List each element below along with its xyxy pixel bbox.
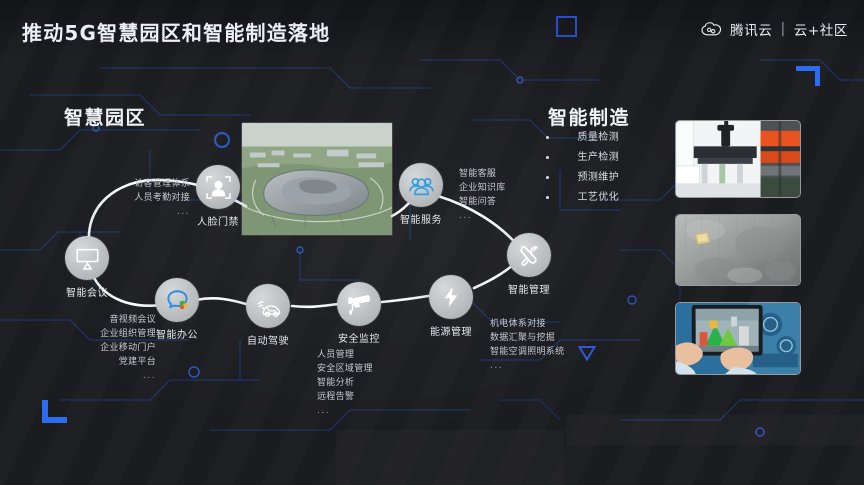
- smart-car-icon: [255, 293, 282, 320]
- node-bubble: [155, 278, 199, 322]
- desc-line: 党建平台: [80, 356, 156, 370]
- desc-line: 企业组织管理: [80, 328, 156, 342]
- desc-ellipsis: ...: [317, 405, 373, 419]
- desc-line: 智能空调照明系统: [490, 346, 564, 360]
- desc-line: 人员管理: [317, 350, 354, 360]
- desc-smart-office: 音视频会议 企业组织管理 企业移动门户 党建平台 ...: [80, 314, 156, 384]
- face-recognition-icon: [205, 174, 232, 201]
- connector-arc: [0, 0, 864, 485]
- node-label: 安全监控: [338, 330, 380, 345]
- desc-line: 智能客服: [459, 169, 496, 179]
- desc-line: 安全区域管理: [317, 363, 373, 377]
- cctv-camera-icon: [346, 291, 372, 317]
- desc-line: 人员考勤对接: [118, 192, 190, 206]
- node-bubble: [507, 233, 551, 277]
- node-bubble: [399, 163, 443, 207]
- node-autonomous-driving[interactable]: 自动驾驶: [246, 284, 290, 328]
- node-label: 自动驾驶: [247, 332, 289, 347]
- node-face-access[interactable]: 人脸门禁: [196, 165, 240, 209]
- desc-line: 音视频会议: [109, 315, 156, 325]
- node-label: 智能管理: [508, 281, 550, 296]
- wrench-screwdriver-icon: [517, 243, 542, 268]
- desc-line: 智能问答: [459, 196, 506, 210]
- node-smart-service[interactable]: 智能服务: [399, 163, 443, 207]
- node-label: 智能服务: [400, 211, 442, 226]
- desc-line: 企业移动门户: [80, 342, 156, 356]
- desc-line: 数据汇聚与挖掘: [490, 332, 564, 346]
- desc-ellipsis: ...: [80, 370, 156, 384]
- node-smart-office[interactable]: 智能办公: [155, 278, 199, 322]
- desc-line: 访客管理体系: [134, 179, 190, 189]
- desc-smart-service: 智能客服 企业知识库 智能问答 ...: [459, 168, 506, 224]
- node-label: 能源管理: [430, 323, 472, 338]
- node-bubble: [196, 165, 240, 209]
- desc-security-monitoring: 人员管理 安全区域管理 智能分析 远程告警 ...: [317, 349, 373, 419]
- lightning-bolt-icon: [439, 285, 463, 309]
- node-bubble: [65, 236, 109, 280]
- wework-chat-icon: [164, 287, 190, 313]
- node-bubble: [429, 275, 473, 319]
- desc-ellipsis: ...: [459, 210, 506, 224]
- slide-canvas: 推动5G智慧园区和智能制造落地 腾讯云 | 云+社区 智慧园区 智能制造 质量检…: [0, 0, 864, 485]
- projector-icon: [75, 246, 100, 271]
- node-energy-management[interactable]: 能源管理: [429, 275, 473, 319]
- node-security-monitoring[interactable]: 安全监控: [337, 282, 381, 326]
- node-smart-meeting[interactable]: 智能会议: [65, 236, 109, 280]
- node-label: 智能会议: [66, 284, 108, 299]
- desc-ellipsis: ...: [490, 360, 564, 374]
- user-group-icon: [408, 172, 435, 199]
- node-bubble: [337, 282, 381, 326]
- desc-ellipsis: ...: [118, 206, 190, 220]
- desc-line: 智能分析: [317, 377, 373, 391]
- desc-face-access: 访客管理体系 人员考勤对接 ...: [118, 178, 190, 220]
- desc-line: 远程告警: [317, 391, 373, 405]
- desc-smart-management: 机电体系对接 数据汇聚与挖掘 智能空调照明系统 ...: [490, 318, 564, 374]
- desc-line: 机电体系对接: [490, 319, 546, 329]
- node-label: 智能办公: [156, 326, 198, 341]
- node-smart-management[interactable]: 智能管理: [507, 233, 551, 277]
- desc-line: 企业知识库: [459, 182, 506, 196]
- node-bubble: [246, 284, 290, 328]
- node-label: 人脸门禁: [197, 213, 239, 228]
